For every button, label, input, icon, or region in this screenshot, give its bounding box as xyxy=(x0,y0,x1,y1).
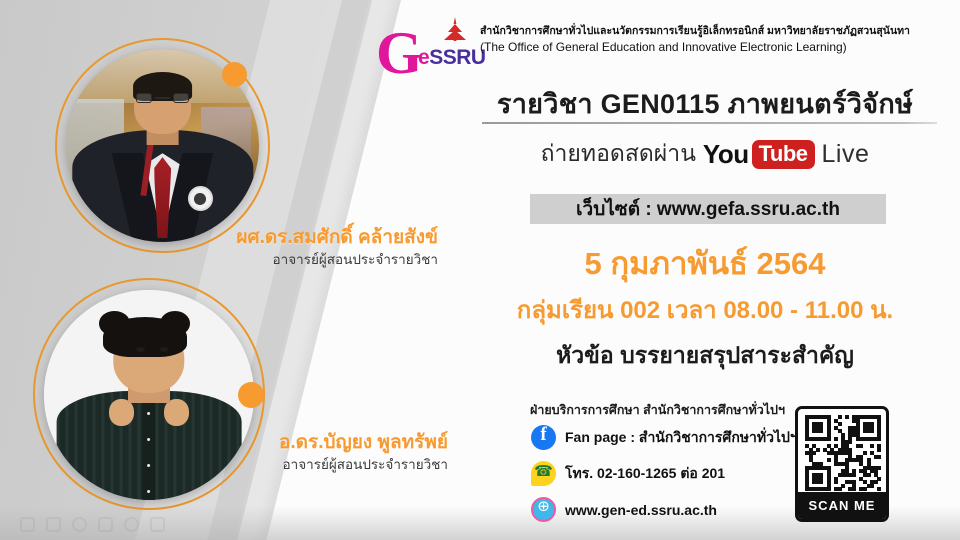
event-date: 5 กุมภาพันธ์ 2564 xyxy=(460,238,950,288)
website-band[interactable]: เว็บไซต์ : www.gefa.ssru.ac.th xyxy=(530,194,886,224)
course-title: รายวิชา GEN0115 ภาพยนตร์วิจักษ์ xyxy=(460,82,950,125)
accent-dot-1 xyxy=(222,62,247,87)
group-and-time: กลุ่มเรียน 002 เวลา 08.00 - 11.00 น. xyxy=(450,290,960,329)
qr-pattern xyxy=(805,415,881,491)
instructor-1-role: อาจารย์ผู้สอนประจำรายวิชา xyxy=(0,248,460,270)
youtube-you-text: You xyxy=(703,139,749,170)
department-name: ฝ่ายบริการการศึกษา สำนักวิชาการศึกษาทั่ว… xyxy=(530,400,785,420)
qr-scan-label: SCAN ME xyxy=(798,492,886,519)
website-url-text: www.gen-ed.ssru.ac.th xyxy=(565,502,717,518)
org-english-name: (The Office of General Education and Inn… xyxy=(480,39,950,55)
org-thai-name: สำนักวิชาการศึกษาทั่วไปและนวัตกรรมการเรี… xyxy=(480,24,950,39)
phone-text: โทร. 02-160-1265 ต่อ 201 xyxy=(565,463,725,485)
live-label: Live xyxy=(822,140,870,169)
poster-canvas: ผศ.ดร.สมศักดิ์ คล้ายสังข์ อาจารย์ผู้สอนป… xyxy=(0,0,960,540)
ssru-logo: G eSSRU xyxy=(374,12,478,86)
thai-pavilion-icon xyxy=(440,16,470,46)
faint-watermark-icons xyxy=(20,517,165,532)
logo-essru-text: eSSRU xyxy=(418,46,486,70)
youtube-logo: You Tube xyxy=(703,139,815,170)
globe-icon[interactable] xyxy=(531,497,556,522)
contact-row-phone[interactable]: โทร. 02-160-1265 ต่อ 201 xyxy=(531,461,798,486)
phone-icon[interactable] xyxy=(531,461,556,486)
logo-letter-g: G xyxy=(376,24,423,82)
qr-code[interactable]: SCAN ME xyxy=(795,406,889,522)
organization-header: สำนักวิชาการศึกษาทั่วไปและนวัตกรรมการเรี… xyxy=(480,24,950,55)
website-text: เว็บไซต์ : www.gefa.ssru.ac.th xyxy=(576,194,840,224)
title-divider xyxy=(482,122,937,124)
contact-list: Fan page : สำนักวิชาการศึกษาทั่วไปฯ โทร.… xyxy=(531,425,798,522)
accent-dot-2 xyxy=(238,382,264,408)
broadcast-line: ถ่ายทอดสดผ่าน You Tube Live xyxy=(460,136,950,172)
broadcast-prefix: ถ่ายทอดสดผ่าน xyxy=(541,136,696,172)
contact-row-facebook[interactable]: Fan page : สำนักวิชาการศึกษาทั่วไปฯ xyxy=(531,425,798,450)
instructor-2-role: อาจารย์ผู้สอนประจำรายวิชา xyxy=(0,453,460,475)
facebook-icon[interactable] xyxy=(531,425,556,450)
session-topic: หัวข้อ บรรยายสรุปสาระสำคัญ xyxy=(450,338,960,374)
facebook-text: Fan page : สำนักวิชาการศึกษาทั่วไปฯ xyxy=(565,427,798,449)
contact-row-website[interactable]: www.gen-ed.ssru.ac.th xyxy=(531,497,798,522)
youtube-tube-badge: Tube xyxy=(752,140,815,169)
